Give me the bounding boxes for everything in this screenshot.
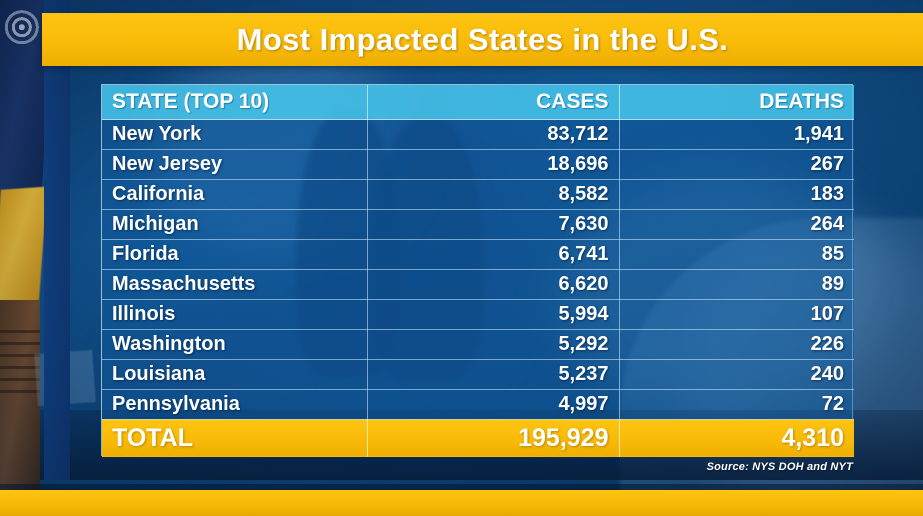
total-deaths: 4,310 (619, 419, 854, 457)
title-banner: Most Impacted States in the U.S. (42, 13, 923, 66)
cell-cases: 4,997 (367, 389, 619, 419)
cell-state: New York (102, 119, 367, 149)
column-header-deaths: DEATHS (619, 85, 854, 119)
cell-deaths: 264 (619, 209, 854, 239)
cell-state: Michigan (102, 209, 367, 239)
total-label: TOTAL (102, 419, 367, 457)
states-table: STATE (TOP 10) CASES DEATHS New York 83,… (102, 85, 854, 457)
table-row: Louisiana 5,237 240 (102, 359, 854, 389)
column-header-state: STATE (TOP 10) (102, 85, 367, 119)
column-header-cases: CASES (367, 85, 619, 119)
table-row: New Jersey 18,696 267 (102, 149, 854, 179)
table-row: Florida 6,741 85 (102, 239, 854, 269)
cell-cases: 6,620 (367, 269, 619, 299)
cell-state: Illinois (102, 299, 367, 329)
most-impacted-states-table: STATE (TOP 10) CASES DEATHS New York 83,… (101, 84, 853, 456)
cell-state: Washington (102, 329, 367, 359)
table-header-row: STATE (TOP 10) CASES DEATHS (102, 85, 854, 119)
cell-deaths: 1,941 (619, 119, 854, 149)
table-row: Massachusetts 6,620 89 (102, 269, 854, 299)
cell-cases: 83,712 (367, 119, 619, 149)
cell-deaths: 89 (619, 269, 854, 299)
table-row: California 8,582 183 (102, 179, 854, 209)
table-row: Pennsylvania 4,997 72 (102, 389, 854, 419)
cell-cases: 5,292 (367, 329, 619, 359)
cell-state: Massachusetts (102, 269, 367, 299)
lower-third-bar (0, 490, 923, 516)
page-title: Most Impacted States in the U.S. (237, 22, 729, 58)
cell-deaths: 226 (619, 329, 854, 359)
table-row: New York 83,712 1,941 (102, 119, 854, 149)
cell-state: New Jersey (102, 149, 367, 179)
cell-deaths: 72 (619, 389, 854, 419)
cell-deaths: 107 (619, 299, 854, 329)
source-attribution: Source: NYS DOH and NYT (707, 461, 853, 473)
cell-cases: 8,582 (367, 179, 619, 209)
cell-cases: 7,630 (367, 209, 619, 239)
table-row: Washington 5,292 226 (102, 329, 854, 359)
table-body: New York 83,712 1,941 New Jersey 18,696 … (102, 119, 854, 419)
cell-deaths: 183 (619, 179, 854, 209)
cell-deaths: 267 (619, 149, 854, 179)
total-cases: 195,929 (367, 419, 619, 457)
total-row: TOTAL 195,929 4,310 (102, 419, 854, 457)
cell-state: Florida (102, 239, 367, 269)
table-row: Michigan 7,630 264 (102, 209, 854, 239)
cell-deaths: 240 (619, 359, 854, 389)
cell-cases: 5,237 (367, 359, 619, 389)
cell-state: Pennsylvania (102, 389, 367, 419)
cell-state: Louisiana (102, 359, 367, 389)
table-row: Illinois 5,994 107 (102, 299, 854, 329)
table-header: STATE (TOP 10) CASES DEATHS (102, 85, 854, 119)
table-footer: TOTAL 195,929 4,310 (102, 419, 854, 457)
cell-cases: 5,994 (367, 299, 619, 329)
cell-deaths: 85 (619, 239, 854, 269)
cell-state: California (102, 179, 367, 209)
cell-cases: 18,696 (367, 149, 619, 179)
cell-cases: 6,741 (367, 239, 619, 269)
